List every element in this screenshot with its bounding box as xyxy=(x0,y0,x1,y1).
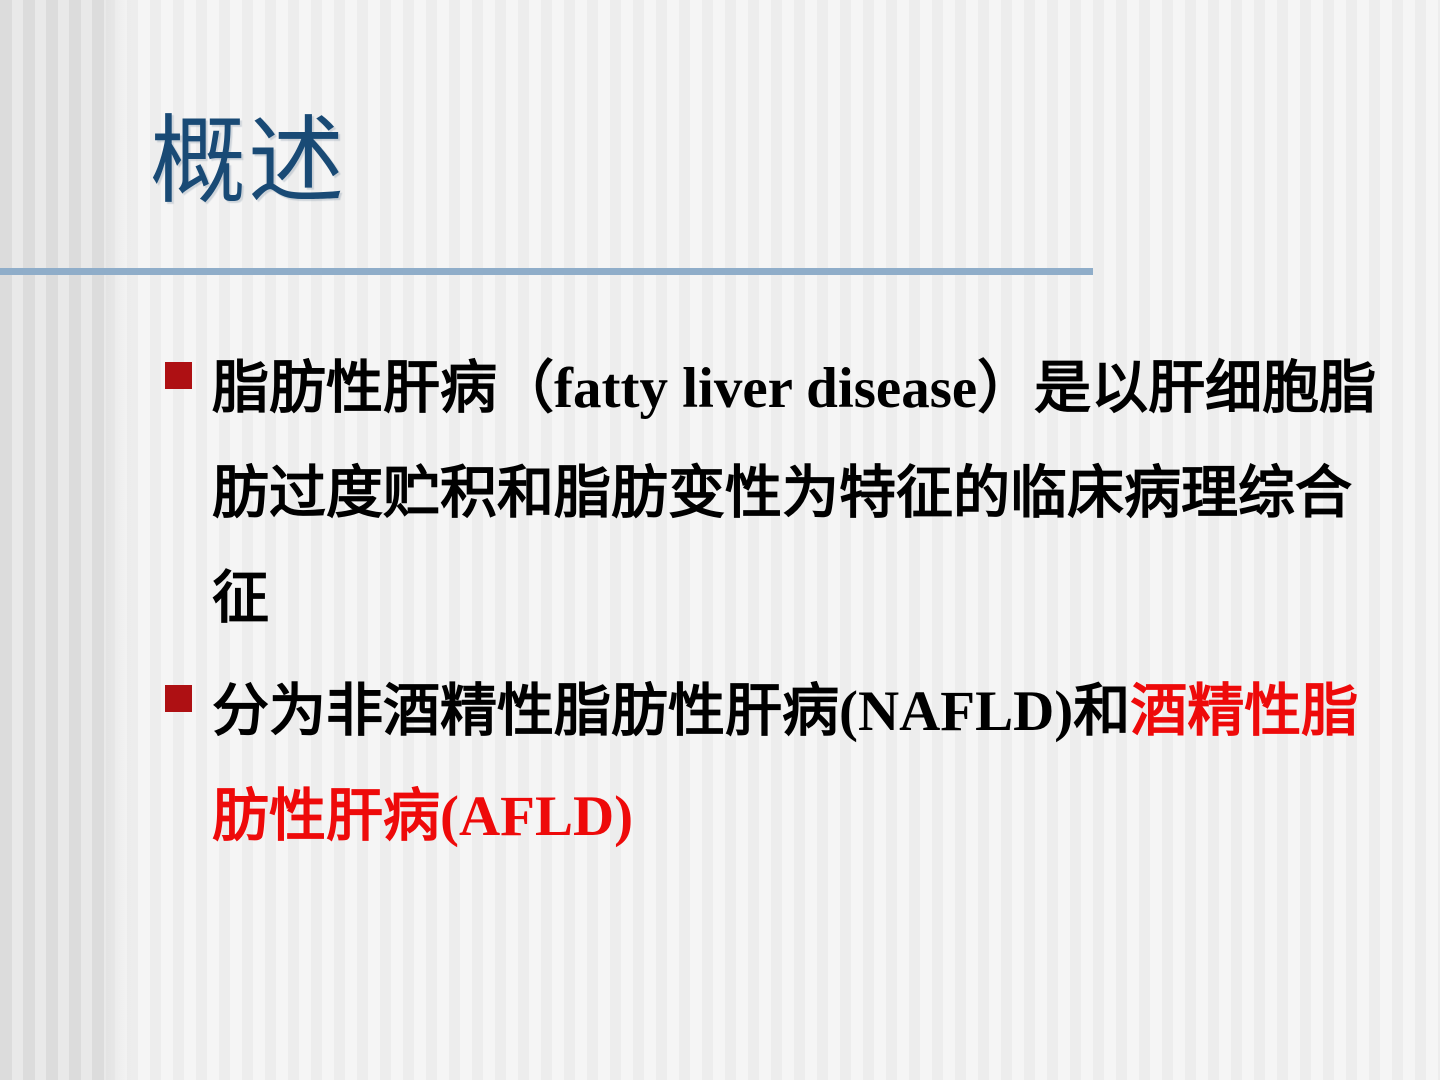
bullet-item-1-text: 脂肪性肝病（fatty liver disease）是以肝细胞脂肪过度贮积和脂肪… xyxy=(212,336,1380,651)
slide-title: 概述 xyxy=(150,110,346,214)
bullet-item-2: 分为非酒精性脂肪性肝病(NAFLD)和酒精性脂肪性肝病(AFLD) xyxy=(160,659,1380,869)
square-bullet-icon xyxy=(165,362,192,389)
square-bullet-icon xyxy=(165,685,192,712)
background-edge-gradient xyxy=(106,0,132,1080)
slide-canvas: 概述 脂肪性肝病（fatty liver disease）是以肝细胞脂肪过度贮积… xyxy=(0,0,1440,1080)
bullet-item-2-text: 分为非酒精性脂肪性肝病(NAFLD)和酒精性脂肪性肝病(AFLD) xyxy=(212,659,1380,869)
title-divider-line xyxy=(0,268,1093,275)
slide-body: 脂肪性肝病（fatty liver disease）是以肝细胞脂肪过度贮积和脂肪… xyxy=(160,336,1380,869)
background-stripes-left xyxy=(0,0,106,1080)
bullet-item-1-text-black: 脂肪性肝病（fatty liver disease）是以肝细胞脂肪过度贮积和脂肪… xyxy=(212,357,1376,630)
bullet-item-1: 脂肪性肝病（fatty liver disease）是以肝细胞脂肪过度贮积和脂肪… xyxy=(160,336,1380,651)
bullet-item-2-text-black: 分为非酒精性脂肪性肝病(NAFLD)和 xyxy=(212,680,1130,743)
